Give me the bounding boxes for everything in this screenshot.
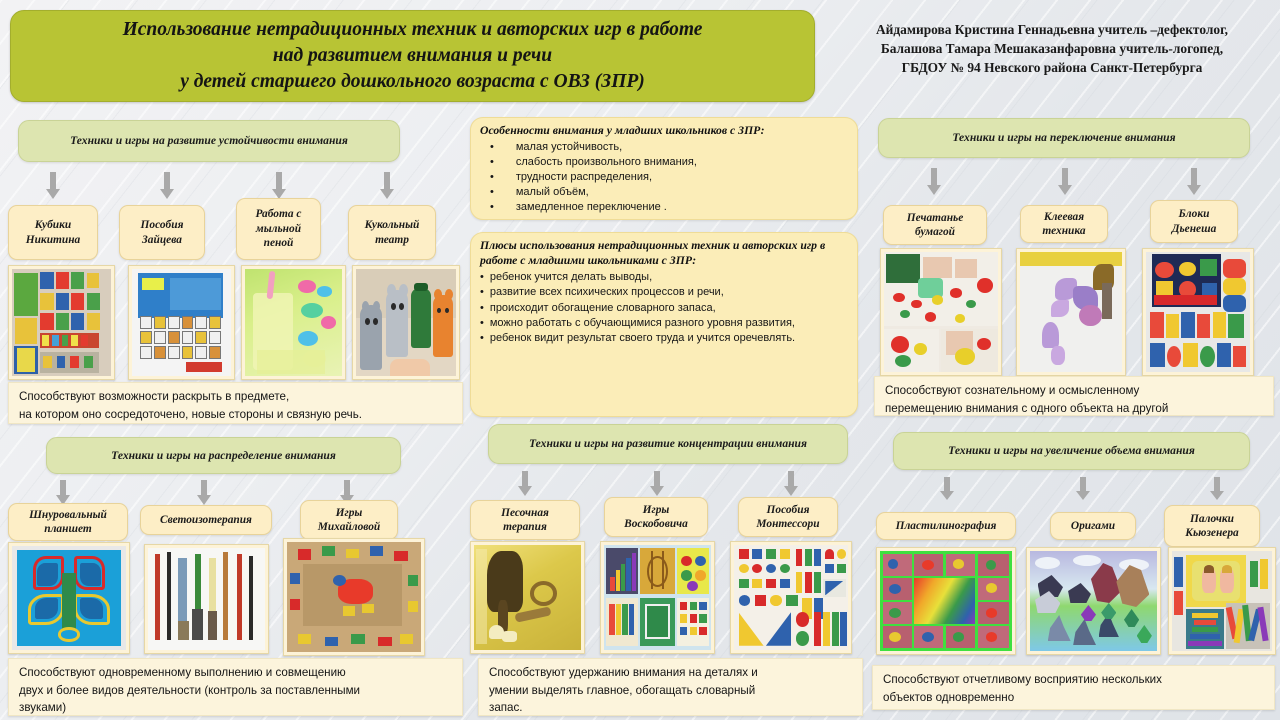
item-pill-puppet-theatre[interactable]: Кукольный театр (348, 205, 436, 260)
arrow-down-icon (940, 477, 954, 501)
slide-title-banner: Использование нетрадиционных техник и ав… (10, 10, 815, 102)
arrow-down-icon (1058, 168, 1072, 196)
bullet-icon: • (480, 270, 484, 285)
photo-mikhaylova-games (283, 538, 425, 656)
slide-title-line-1: Использование нетрадиционных техник и ав… (123, 17, 703, 43)
list-item: •развитие всех психических процессов и р… (480, 285, 848, 300)
bullet-icon: • (490, 140, 494, 155)
item-label: Светоизотерапия (160, 513, 252, 528)
list-item: •происходит обогащение словарного запаса… (480, 301, 848, 316)
bullet-icon: • (480, 316, 484, 331)
item-label: Кубики Никитина (26, 218, 81, 247)
bullet-icon: • (490, 200, 494, 215)
group-header-switching-label: Техники и игры на переключение внимания (952, 131, 1175, 145)
group-header-distribution-label: Техники и игры на распределение внимания (111, 449, 336, 463)
photo-lacing-tablet (8, 542, 130, 654)
author-line-2: Балашова Тамара Мешаказанфаровна учитель… (828, 39, 1276, 58)
caption-text: Способствуют отчетливому восприятию неск… (883, 671, 1266, 706)
group-header-stability-label: Техники и игры на развитие устойчивости … (70, 134, 348, 148)
photo-sand-therapy (470, 541, 585, 654)
item-pill-light-iso-therapy[interactable]: Светоизотерапия (140, 505, 272, 535)
arrow-down-icon (160, 172, 174, 200)
list-item: •можно работать с обучающимися разного у… (480, 316, 848, 331)
item-label: Шнуровальный планшет (29, 508, 107, 537)
photo-montessori-aids (730, 541, 852, 654)
list-item-text: ребенок учится делать выводы, (490, 270, 652, 285)
item-pill-paper-printing[interactable]: Печатанье бумагой (883, 205, 987, 245)
item-pill-origami[interactable]: Оригами (1050, 512, 1136, 540)
caption-volume: Способствуют отчетливому восприятию неск… (872, 665, 1275, 710)
item-label: Работа с мыльной пеной (256, 207, 302, 251)
benefits-list: •ребенок учится делать выводы, •развитие… (480, 270, 848, 346)
author-line-1: Айдамирова Кристина Геннадьевна учитель … (828, 20, 1276, 39)
authors-block: Айдамирова Кристина Геннадьевна учитель … (828, 20, 1276, 77)
photo-cuisenaire-rods (1168, 547, 1276, 655)
caption-text: Способствуют одновременному выполнению и… (19, 664, 454, 717)
photo-glue-technique (1016, 248, 1126, 376)
photo-soap-foam (241, 265, 346, 380)
bullet-icon: • (490, 170, 494, 185)
author-line-3: ГБДОУ № 94 Невского района Санкт-Петербу… (828, 58, 1276, 77)
photo-zaytsev-aids (128, 265, 235, 380)
arrow-down-icon (380, 172, 394, 200)
photo-origami (1026, 547, 1161, 655)
item-pill-nikitin-cubes[interactable]: Кубики Никитина (8, 205, 98, 260)
benefits-info-box: Плюсы использования нетрадиционных техни… (470, 232, 858, 417)
list-item: •ребенок видит результат своего труда и … (480, 331, 848, 346)
list-item-text: происходит обогащение словарного запаса, (490, 301, 716, 316)
group-header-distribution[interactable]: Техники и игры на распределение внимания (46, 437, 401, 474)
item-label: Палочки Кьюзенера (1185, 512, 1239, 541)
item-label: Клеевая техника (1042, 210, 1085, 239)
list-item-text: слабость произвольного внимания, (516, 155, 697, 170)
photo-voskobovich-games (600, 541, 715, 654)
arrow-down-icon (1076, 477, 1090, 501)
item-pill-cuisenaire-rods[interactable]: Палочки Кьюзенера (1164, 505, 1260, 547)
bullet-icon: • (490, 155, 494, 170)
bullet-icon: • (490, 185, 494, 200)
item-pill-montessori-aids[interactable]: Пособия Монтессори (738, 497, 838, 537)
arrow-down-icon (784, 471, 798, 497)
slide-canvas: Использование нетрадиционных техник и ав… (0, 0, 1280, 720)
arrow-down-icon (518, 471, 532, 497)
photo-puppet-theatre (352, 265, 460, 380)
list-item: •замедленное переключение . (480, 200, 848, 215)
item-label: Кукольный театр (365, 218, 420, 247)
features-info-box: Особенности внимания у младших школьнико… (470, 117, 858, 220)
list-item-text: можно работать с обучающимися разного ур… (490, 316, 795, 331)
item-pill-sand-therapy[interactable]: Песочная терапия (470, 500, 580, 540)
slide-title-line-2: над развитием внимания и речи (123, 43, 703, 69)
caption-text: Способствуют удержанию внимания на детал… (489, 664, 854, 717)
list-item: •слабость произвольного внимания, (480, 155, 848, 170)
item-pill-dienesh-blocks[interactable]: Блоки Дьенеша (1150, 200, 1238, 243)
item-label: Пособия Зайцева (141, 218, 184, 247)
slide-title-line-3: у детей старшего дошкольного возраста с … (123, 69, 703, 95)
list-item-text: ребенок видит результат своего труда и у… (490, 331, 795, 346)
list-item-text: трудности распределения, (516, 170, 652, 185)
item-pill-zaytsev-aids[interactable]: Пособия Зайцева (119, 205, 205, 260)
list-item-text: малая устойчивость, (516, 140, 622, 155)
arrow-down-icon (1210, 477, 1224, 501)
group-header-stability[interactable]: Техники и игры на развитие устойчивости … (18, 120, 400, 162)
item-pill-soap-foam[interactable]: Работа с мыльной пеной (236, 198, 321, 260)
caption-text: Способствуют сознательному и осмысленном… (885, 382, 1265, 417)
caption-switching: Способствуют сознательному и осмысленном… (874, 376, 1274, 416)
photo-paper-printing (880, 248, 1002, 376)
item-label: Печатанье бумагой (907, 211, 964, 240)
features-list: •малая устойчивость, •слабость произволь… (480, 140, 848, 216)
item-pill-plasticineography[interactable]: Пластилинография (876, 512, 1016, 540)
benefits-header: Плюсы использования нетрадиционных техни… (480, 239, 848, 268)
bullet-icon: • (480, 301, 484, 316)
list-item: •ребенок учится делать выводы, (480, 270, 848, 285)
item-pill-glue-technique[interactable]: Клеевая техника (1020, 205, 1108, 243)
photo-dienesh-blocks (1142, 248, 1254, 376)
list-item-text: замедленное переключение . (516, 200, 667, 215)
item-label: Песочная терапия (501, 506, 549, 535)
bullet-icon: • (480, 285, 484, 300)
arrow-down-icon (46, 172, 60, 200)
item-label: Пластилинография (896, 519, 997, 534)
arrow-down-icon (197, 480, 211, 506)
arrow-down-icon (650, 471, 664, 497)
caption-text: Способствуют возможности раскрыть в пред… (19, 388, 454, 423)
item-label: Блоки Дьенеша (1172, 207, 1217, 236)
photo-nikitin-cubes (8, 265, 115, 380)
list-item: •малая устойчивость, (480, 140, 848, 155)
caption-distribution: Способствуют одновременному выполнению и… (8, 658, 463, 716)
group-header-concentration-label: Техники и игры на развитие концентрации … (529, 437, 807, 451)
caption-concentration: Способствуют удержанию внимания на детал… (478, 658, 863, 716)
item-label: Пособия Монтессори (756, 503, 819, 532)
item-pill-voskobovich-games[interactable]: Игры Воскобовича (604, 497, 708, 537)
arrow-down-icon (1187, 168, 1201, 196)
list-item: •малый объём, (480, 185, 848, 200)
photo-light-iso-therapy (144, 544, 269, 654)
item-label: Игры Михайловой (318, 506, 381, 535)
item-label: Игры Воскобовича (624, 503, 688, 532)
features-header: Особенности внимания у младших школьнико… (480, 124, 848, 139)
arrow-down-icon (272, 172, 286, 200)
group-header-concentration[interactable]: Техники и игры на развитие концентрации … (488, 424, 848, 464)
list-item: •трудности распределения, (480, 170, 848, 185)
arrow-down-icon (927, 168, 941, 196)
item-label: Оригами (1071, 519, 1115, 534)
list-item-text: малый объём, (516, 185, 589, 200)
caption-stability: Способствуют возможности раскрыть в пред… (8, 382, 463, 424)
group-header-volume[interactable]: Техники и игры на увеличение объема вним… (893, 432, 1250, 470)
item-pill-lacing-tablet[interactable]: Шнуровальный планшет (8, 503, 128, 541)
photo-plasticineography (876, 547, 1016, 655)
group-header-volume-label: Техники и игры на увеличение объема вним… (948, 444, 1195, 458)
group-header-switching[interactable]: Техники и игры на переключение внимания (878, 118, 1250, 158)
list-item-text: развитие всех психических процессов и ре… (490, 285, 724, 300)
bullet-icon: • (480, 331, 484, 346)
item-pill-mikhaylova-games[interactable]: Игры Михайловой (300, 500, 398, 540)
